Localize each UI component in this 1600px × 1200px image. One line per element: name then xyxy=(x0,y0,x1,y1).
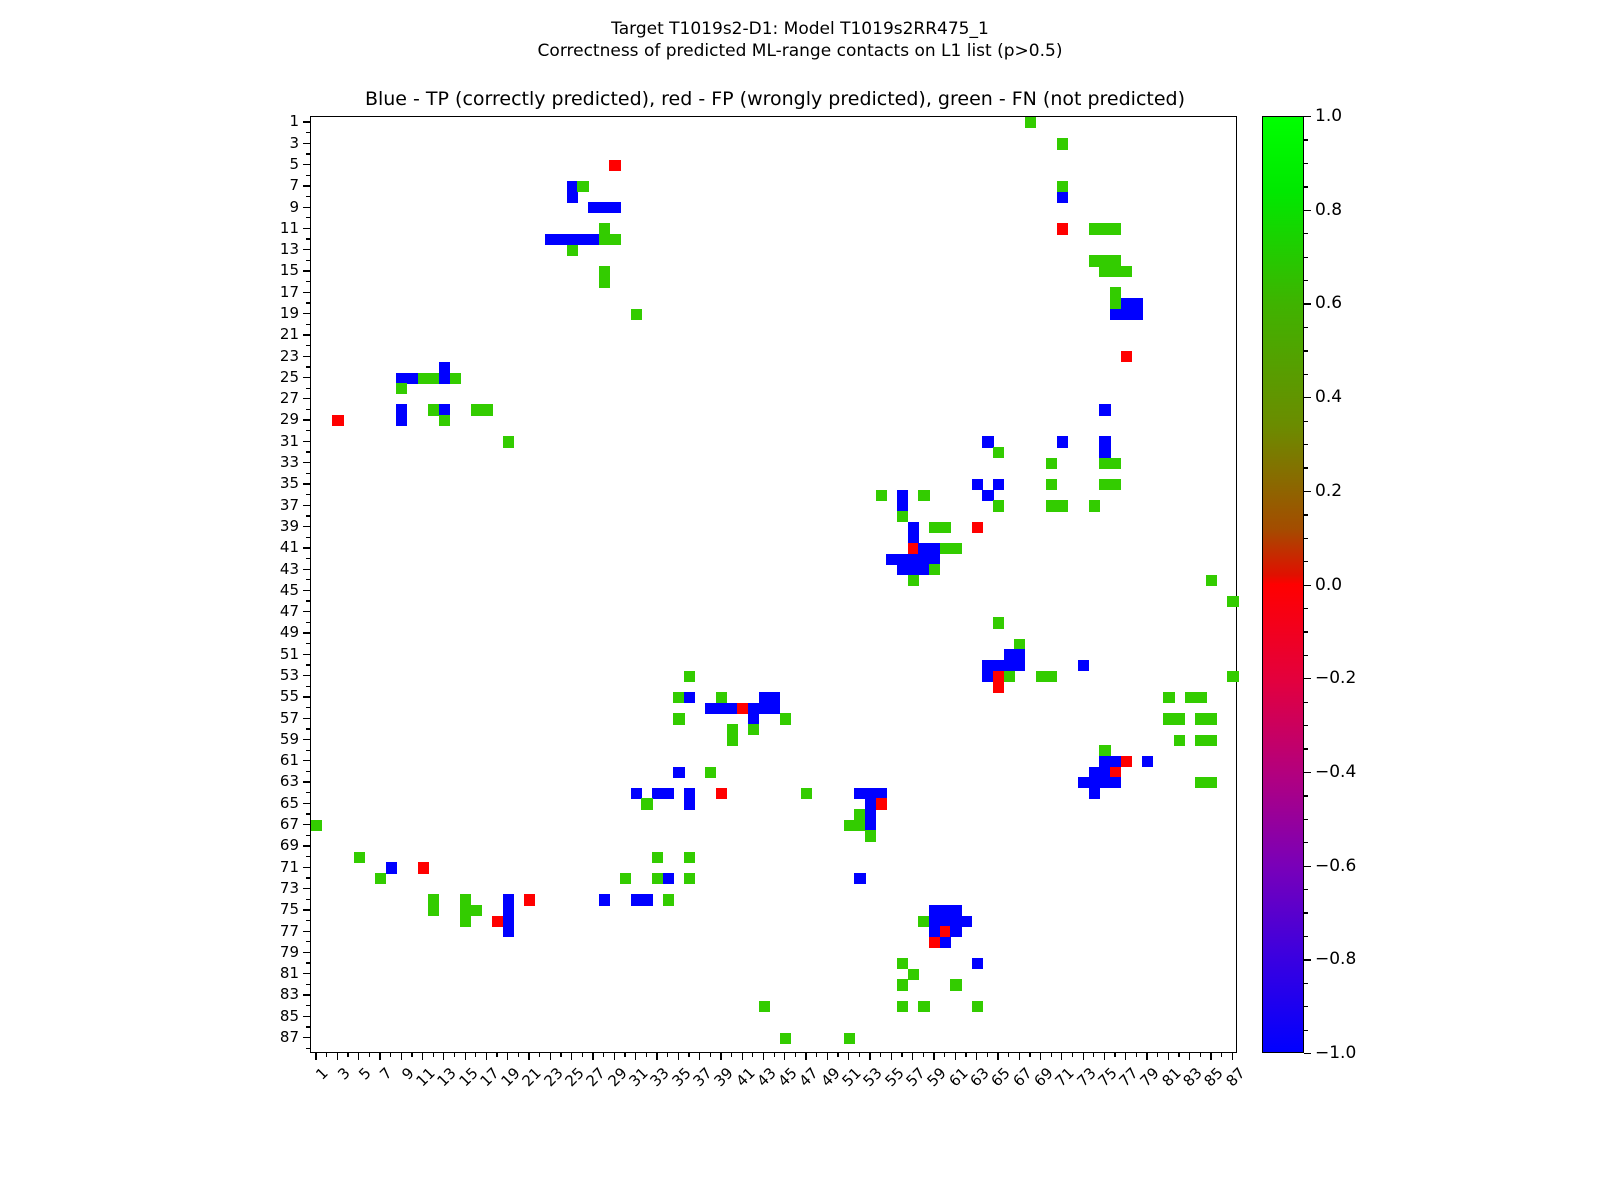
y-axis-tick xyxy=(303,994,310,995)
y-axis-tick xyxy=(303,270,310,271)
colorbar-tick-label: −1.0 xyxy=(1315,1043,1356,1063)
contact-cell xyxy=(1110,223,1121,234)
contact-cell xyxy=(950,926,961,937)
x-axis-tick xyxy=(1104,1053,1105,1060)
contact-cell xyxy=(332,415,343,426)
y-axis-tick xyxy=(303,867,310,868)
contact-cell xyxy=(503,926,514,937)
colorbar-tick xyxy=(1304,959,1311,960)
colorbar-minor-tick xyxy=(1304,514,1308,515)
colorbar-minor-tick xyxy=(1304,889,1308,890)
colorbar-minor-tick xyxy=(1304,631,1308,632)
y-axis-tick-label: 7 xyxy=(0,176,299,194)
y-axis-tick-label: 15 xyxy=(0,261,299,279)
x-axis-tick xyxy=(1072,1053,1073,1057)
contact-cell xyxy=(1206,777,1217,788)
contact-cell xyxy=(428,373,439,384)
y-axis-tick xyxy=(303,739,310,740)
contact-cell xyxy=(1142,756,1153,767)
x-axis-tick xyxy=(987,1053,988,1057)
contact-cell xyxy=(897,564,908,575)
contact-cell xyxy=(908,554,919,565)
y-axis-tick xyxy=(306,643,310,644)
contact-cell xyxy=(1014,660,1025,671)
colorbar-tick xyxy=(1304,303,1311,304)
contact-cell xyxy=(1121,351,1132,362)
y-axis-tick-label: 29 xyxy=(0,410,299,428)
y-axis-tick-label: 5 xyxy=(0,155,299,173)
x-axis-tick xyxy=(1146,1053,1147,1060)
contact-cell xyxy=(1206,735,1217,746)
y-axis-tick-label: 23 xyxy=(0,347,299,365)
contact-cell xyxy=(1227,671,1238,682)
contact-cell xyxy=(1099,479,1110,490)
contact-cell xyxy=(1099,404,1110,415)
x-axis-tick xyxy=(379,1053,380,1060)
x-axis-tick xyxy=(1125,1053,1126,1060)
contact-cell xyxy=(929,522,940,533)
contact-cell xyxy=(940,905,951,916)
contact-cell xyxy=(908,522,919,533)
x-axis-tick xyxy=(710,1053,711,1057)
y-axis-tick xyxy=(303,483,310,484)
contact-cell xyxy=(609,202,620,213)
contact-cell xyxy=(1089,500,1100,511)
y-axis-tick-label: 49 xyxy=(0,623,299,641)
colorbar-tick-label: 0.8 xyxy=(1315,200,1342,220)
colorbar-tick-label: −0.4 xyxy=(1315,762,1356,782)
x-axis-tick xyxy=(656,1053,657,1060)
x-axis-tick xyxy=(390,1053,391,1057)
x-axis-tick xyxy=(624,1053,625,1057)
contact-cell xyxy=(897,500,908,511)
x-axis-tick xyxy=(774,1053,775,1057)
contact-cell xyxy=(993,479,1004,490)
contact-cell xyxy=(556,234,567,245)
colorbar-minor-tick xyxy=(1304,257,1308,258)
contact-cell xyxy=(865,830,876,841)
contact-cell xyxy=(737,703,748,714)
contact-cell xyxy=(759,1001,770,1012)
y-axis-tick-label: 19 xyxy=(0,304,299,322)
x-axis-tick xyxy=(443,1053,444,1060)
contact-cells-layer xyxy=(311,117,1236,1052)
x-axis-tick xyxy=(486,1053,487,1060)
contact-cell xyxy=(961,916,972,927)
x-axis-tick xyxy=(401,1053,402,1060)
x-axis-tick-label: 5 xyxy=(355,1064,374,1083)
contact-cell xyxy=(684,852,695,863)
contact-cell xyxy=(1121,309,1132,320)
contact-cell xyxy=(940,926,951,937)
y-axis-tick-label: 1 xyxy=(0,112,299,130)
contact-cell xyxy=(1195,735,1206,746)
y-axis-tick xyxy=(306,622,310,623)
y-axis-tick xyxy=(306,388,310,389)
y-axis-tick xyxy=(306,877,310,878)
contact-cell xyxy=(972,479,983,490)
contact-cell xyxy=(663,873,674,884)
contact-cell xyxy=(1195,777,1206,788)
y-axis-tick xyxy=(306,728,310,729)
y-axis-tick-label: 27 xyxy=(0,389,299,407)
contact-cell xyxy=(684,873,695,884)
contact-cell xyxy=(1195,713,1206,724)
contact-cell xyxy=(620,873,631,884)
x-axis-tick xyxy=(433,1053,434,1057)
contact-cell xyxy=(950,916,961,927)
contact-cell xyxy=(673,692,684,703)
contact-cell xyxy=(631,894,642,905)
y-axis-tick xyxy=(303,419,310,420)
y-axis-tick xyxy=(306,579,310,580)
colorbar-tick-label: 1.0 xyxy=(1315,106,1342,126)
x-axis-tick xyxy=(752,1053,753,1057)
y-axis-tick xyxy=(306,430,310,431)
contact-cell xyxy=(940,937,951,948)
y-axis-tick xyxy=(303,1016,310,1017)
x-axis-tick xyxy=(465,1053,466,1060)
y-axis-tick xyxy=(303,632,310,633)
contact-cell xyxy=(929,916,940,927)
x-axis-tick-label: 87 xyxy=(1222,1064,1248,1090)
y-axis-tick xyxy=(303,1037,310,1038)
contact-cell xyxy=(1110,756,1121,767)
x-axis-tick xyxy=(369,1053,370,1057)
x-axis-tick xyxy=(965,1053,966,1057)
contact-cell xyxy=(396,383,407,394)
contact-cell xyxy=(950,905,961,916)
contact-cell xyxy=(769,692,780,703)
x-axis-tick xyxy=(1232,1053,1233,1060)
y-axis-tick-label: 75 xyxy=(0,900,299,918)
x-axis-tick xyxy=(592,1053,593,1060)
contact-cell xyxy=(993,681,1004,692)
y-axis-tick xyxy=(306,792,310,793)
x-axis-tick xyxy=(955,1053,956,1060)
y-axis-tick xyxy=(303,334,310,335)
contact-cell xyxy=(918,1001,929,1012)
y-axis-tick xyxy=(303,441,310,442)
y-axis-tick-label: 55 xyxy=(0,687,299,705)
contact-cell xyxy=(950,543,961,554)
contact-cell xyxy=(1078,777,1089,788)
contact-map-plot-area[interactable] xyxy=(310,116,1237,1053)
colorbar-gradient xyxy=(1262,116,1304,1053)
contact-cell xyxy=(748,713,759,724)
y-axis-tick xyxy=(306,473,310,474)
colorbar-minor-tick xyxy=(1304,374,1308,375)
contact-cell xyxy=(1110,309,1121,320)
contact-cell xyxy=(940,522,951,533)
y-axis-tick-label: 11 xyxy=(0,219,299,237)
contact-cell xyxy=(631,309,642,320)
y-axis-tick xyxy=(303,207,310,208)
x-axis-tick xyxy=(1168,1053,1169,1060)
contact-cell xyxy=(897,958,908,969)
figure-title: Target T1019s2-D1: Model T1019s2RR475_1 … xyxy=(0,18,1600,62)
y-axis-tick-label: 3 xyxy=(0,134,299,152)
x-axis-tick xyxy=(944,1053,945,1057)
y-axis-tick xyxy=(306,451,310,452)
contact-cell xyxy=(684,788,695,799)
y-axis-tick xyxy=(303,526,310,527)
contact-cell xyxy=(1163,692,1174,703)
y-axis-tick-label: 65 xyxy=(0,794,299,812)
y-axis-tick xyxy=(306,899,310,900)
x-axis-tick-label: 1 xyxy=(313,1064,332,1083)
x-axis-tick xyxy=(518,1053,519,1057)
contact-cell xyxy=(918,564,929,575)
colorbar-minor-tick xyxy=(1304,795,1308,796)
colorbar-tick-label: −0.6 xyxy=(1315,856,1356,876)
contact-cell xyxy=(844,820,855,831)
contact-cell xyxy=(354,852,365,863)
contact-cell xyxy=(865,820,876,831)
y-axis-tick-label: 37 xyxy=(0,496,299,514)
contact-cell xyxy=(1099,266,1110,277)
y-axis-tick-label: 43 xyxy=(0,560,299,578)
y-axis-tick-label: 53 xyxy=(0,666,299,684)
contact-cell xyxy=(1110,255,1121,266)
contact-cell xyxy=(929,937,940,948)
contact-cell xyxy=(972,958,983,969)
y-axis-tick-label: 21 xyxy=(0,325,299,343)
y-axis-tick xyxy=(306,260,310,261)
contact-cell xyxy=(599,202,610,213)
contact-cell xyxy=(844,1033,855,1044)
y-axis-tick-label: 57 xyxy=(0,709,299,727)
contact-cell xyxy=(1195,692,1206,703)
contact-cell xyxy=(918,490,929,501)
colorbar-minor-tick xyxy=(1304,467,1308,468)
contact-cell xyxy=(481,404,492,415)
y-axis-tick xyxy=(303,952,310,953)
colorbar-tick xyxy=(1304,397,1311,398)
x-axis-tick xyxy=(1178,1053,1179,1057)
contact-cell xyxy=(1110,298,1121,309)
x-axis-tick xyxy=(1040,1053,1041,1060)
y-axis-tick xyxy=(303,569,310,570)
colorbar-minor-tick xyxy=(1304,1030,1308,1031)
contact-cell xyxy=(1014,639,1025,650)
contact-cell xyxy=(311,820,322,831)
contact-cell xyxy=(780,1033,791,1044)
colorbar-tick xyxy=(1304,116,1311,117)
colorbar-tick xyxy=(1304,772,1311,773)
contact-cell xyxy=(1036,671,1047,682)
colorbar-tick xyxy=(1304,678,1311,679)
contact-cell xyxy=(1110,479,1121,490)
contact-cell xyxy=(1121,756,1132,767)
x-axis-tick xyxy=(912,1053,913,1060)
x-axis-tick xyxy=(997,1053,998,1060)
y-axis-tick xyxy=(306,984,310,985)
contact-cell xyxy=(759,692,770,703)
x-axis-tick xyxy=(635,1053,636,1060)
contact-cell xyxy=(567,192,578,203)
contact-cell xyxy=(1057,192,1068,203)
contact-cell xyxy=(428,894,439,905)
contact-cell xyxy=(641,894,652,905)
x-axis-tick xyxy=(528,1053,529,1060)
contact-cell xyxy=(1078,660,1089,671)
contact-cell xyxy=(609,160,620,171)
x-axis-tick xyxy=(763,1053,764,1060)
contact-cell xyxy=(854,788,865,799)
contact-cell xyxy=(1110,777,1121,788)
contact-cell xyxy=(673,713,684,724)
contact-cell xyxy=(940,543,951,554)
contact-cell xyxy=(897,490,908,501)
contact-cell xyxy=(1174,713,1185,724)
contact-cell xyxy=(876,798,887,809)
colorbar-minor-tick xyxy=(1304,561,1308,562)
colorbar-minor-tick xyxy=(1304,163,1308,164)
colorbar-minor-tick xyxy=(1304,912,1308,913)
y-axis-tick xyxy=(306,217,310,218)
colorbar-tick xyxy=(1304,210,1311,211)
contact-cell xyxy=(428,905,439,916)
x-axis-tick xyxy=(1114,1053,1115,1057)
colorbar-tick xyxy=(1304,866,1311,867)
colorbar-minor-tick xyxy=(1304,936,1308,937)
contact-cell xyxy=(599,894,610,905)
y-axis-tick-label: 71 xyxy=(0,858,299,876)
x-axis-tick xyxy=(859,1053,860,1057)
y-axis-tick xyxy=(303,547,310,548)
contact-cell xyxy=(1099,458,1110,469)
contact-cell xyxy=(897,1001,908,1012)
y-axis-tick-label: 87 xyxy=(0,1028,299,1046)
x-axis-tick xyxy=(454,1053,455,1057)
contact-cell xyxy=(684,798,695,809)
contact-cell xyxy=(1174,735,1185,746)
y-axis-tick xyxy=(306,813,310,814)
y-axis-tick-label: 83 xyxy=(0,985,299,1003)
y-axis-tick xyxy=(306,835,310,836)
contact-cell xyxy=(982,436,993,447)
x-axis-tick xyxy=(667,1053,668,1057)
contact-cell xyxy=(631,788,642,799)
y-axis-tick-label: 63 xyxy=(0,772,299,790)
x-axis-tick xyxy=(1061,1053,1062,1060)
y-axis-tick xyxy=(306,153,310,154)
contact-cell xyxy=(652,788,663,799)
x-axis-tick xyxy=(678,1053,679,1060)
contact-cell xyxy=(588,234,599,245)
contact-cell xyxy=(663,788,674,799)
y-axis-tick-label: 45 xyxy=(0,581,299,599)
y-axis-tick-label: 17 xyxy=(0,283,299,301)
contact-cell xyxy=(1089,788,1100,799)
y-axis-tick xyxy=(303,462,310,463)
y-axis-tick xyxy=(303,164,310,165)
colorbar-minor-tick xyxy=(1304,186,1308,187)
y-axis-tick xyxy=(303,249,310,250)
y-axis-tick xyxy=(303,675,310,676)
contact-cell xyxy=(1131,309,1142,320)
y-axis-tick-label: 9 xyxy=(0,198,299,216)
contact-cell xyxy=(897,554,908,565)
x-axis-tick xyxy=(742,1053,743,1060)
contact-cell xyxy=(801,788,812,799)
x-axis-tick xyxy=(496,1053,497,1057)
contact-cell xyxy=(780,713,791,724)
x-axis-tick xyxy=(699,1053,700,1060)
contact-cell xyxy=(854,809,865,820)
colorbar-minor-tick xyxy=(1304,748,1308,749)
y-axis-tick xyxy=(303,611,310,612)
contact-cell xyxy=(993,671,1004,682)
legend-caption: Blue - TP (correctly predicted), red - F… xyxy=(310,88,1240,110)
y-axis-tick xyxy=(303,718,310,719)
y-axis-tick xyxy=(306,345,310,346)
x-axis-tick xyxy=(880,1053,881,1057)
y-axis-tick xyxy=(303,313,310,314)
colorbar-minor-tick xyxy=(1304,983,1308,984)
x-axis-tick xyxy=(614,1053,615,1060)
contact-cell xyxy=(460,905,471,916)
contact-cell xyxy=(1099,756,1110,767)
contact-cell xyxy=(460,916,471,927)
contact-cell xyxy=(727,724,738,735)
y-axis-tick-label: 73 xyxy=(0,879,299,897)
colorbar-minor-tick xyxy=(1304,444,1308,445)
colorbar-minor-tick xyxy=(1304,538,1308,539)
y-axis-tick xyxy=(303,909,310,910)
contact-cell xyxy=(375,873,386,884)
y-axis-tick xyxy=(303,377,310,378)
contact-cell xyxy=(1004,671,1015,682)
contact-cell xyxy=(418,373,429,384)
x-axis-tick xyxy=(315,1053,316,1060)
contact-cell xyxy=(1163,713,1174,724)
contact-cell xyxy=(940,916,951,927)
colorbar-tick-label: 0.0 xyxy=(1315,575,1342,595)
contact-cell xyxy=(1099,223,1110,234)
contact-cell xyxy=(982,490,993,501)
contact-cell xyxy=(524,894,535,905)
y-axis-tick xyxy=(306,750,310,751)
contact-cell xyxy=(396,404,407,415)
y-axis-tick xyxy=(306,686,310,687)
x-axis-tick xyxy=(326,1053,327,1057)
y-axis-tick xyxy=(306,1026,310,1027)
y-axis-tick xyxy=(303,292,310,293)
contact-cell xyxy=(1131,298,1142,309)
x-axis-tick xyxy=(560,1053,561,1057)
y-axis-tick xyxy=(306,515,310,516)
contact-cell xyxy=(460,894,471,905)
y-axis-tick-label: 81 xyxy=(0,964,299,982)
contact-cell xyxy=(1046,479,1057,490)
colorbar-minor-tick xyxy=(1304,819,1308,820)
colorbar[interactable]: 1.00.80.60.40.20.0−0.2−0.4−0.6−0.8−1.0 xyxy=(1262,116,1304,1053)
contact-cell xyxy=(439,362,450,373)
y-axis-tick xyxy=(303,143,310,144)
contact-cell xyxy=(865,809,876,820)
contact-cell xyxy=(471,404,482,415)
contact-cell xyxy=(727,735,738,746)
contact-cell xyxy=(929,905,940,916)
contact-cell xyxy=(386,862,397,873)
colorbar-minor-tick xyxy=(1304,327,1308,328)
contact-cell xyxy=(972,522,983,533)
contact-cell xyxy=(450,373,461,384)
contact-cell xyxy=(993,660,1004,671)
colorbar-minor-tick xyxy=(1304,655,1308,656)
